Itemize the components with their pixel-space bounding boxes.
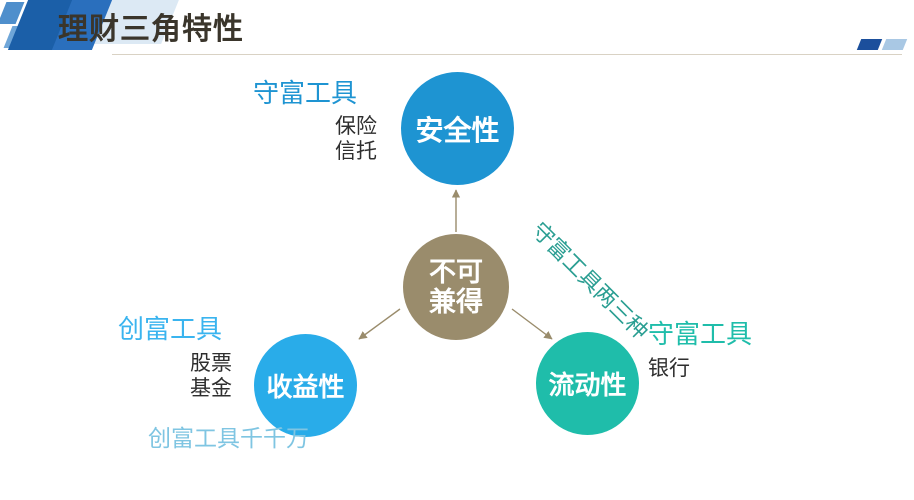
header-divider xyxy=(112,54,902,55)
yield-item-0: 股票 xyxy=(190,352,232,377)
arrow-to-yield xyxy=(359,309,400,339)
arrow-to-liquidity xyxy=(512,309,552,339)
safety-head-label: 守富工具 xyxy=(253,78,357,109)
slide-root: 理财三角特性 安全性 守富工具 保险 信托 不可 xyxy=(0,0,914,500)
header-corner-parallelogram-light-icon xyxy=(882,39,907,50)
yield-items: 股票 基金 xyxy=(190,352,232,402)
triangle-diagram: 安全性 守富工具 保险 信托 不可 兼得 收益性 创富工具 股票 基金 创富工具… xyxy=(0,62,914,500)
safety-item-1: 信托 xyxy=(335,140,377,165)
slide-header: 理财三角特性 xyxy=(0,0,914,62)
node-liquidity[interactable]: 流动性 xyxy=(536,332,639,435)
page-title: 理财三角特性 xyxy=(58,13,244,47)
safety-item-0: 保险 xyxy=(335,115,377,140)
node-safety[interactable]: 安全性 xyxy=(401,72,514,185)
safety-items: 保险 信托 xyxy=(335,115,377,165)
node-center[interactable]: 不可 兼得 xyxy=(403,234,509,340)
node-yield[interactable]: 收益性 xyxy=(254,334,357,437)
yield-footnote: 创富工具千千万 xyxy=(148,425,309,452)
center-line-1: 不可 xyxy=(429,257,483,287)
liquidity-items: 银行 xyxy=(648,357,690,382)
liquidity-item-0: 银行 xyxy=(648,357,690,382)
yield-head-label: 创富工具 xyxy=(118,314,222,345)
center-line-2: 兼得 xyxy=(429,287,483,317)
diagonal-caption: 守富工具两三种 xyxy=(525,214,657,346)
header-corner-parallelogram-dark-icon xyxy=(857,39,882,50)
liquidity-head-label: 守富工具 xyxy=(648,319,752,350)
yield-item-1: 基金 xyxy=(190,377,232,402)
